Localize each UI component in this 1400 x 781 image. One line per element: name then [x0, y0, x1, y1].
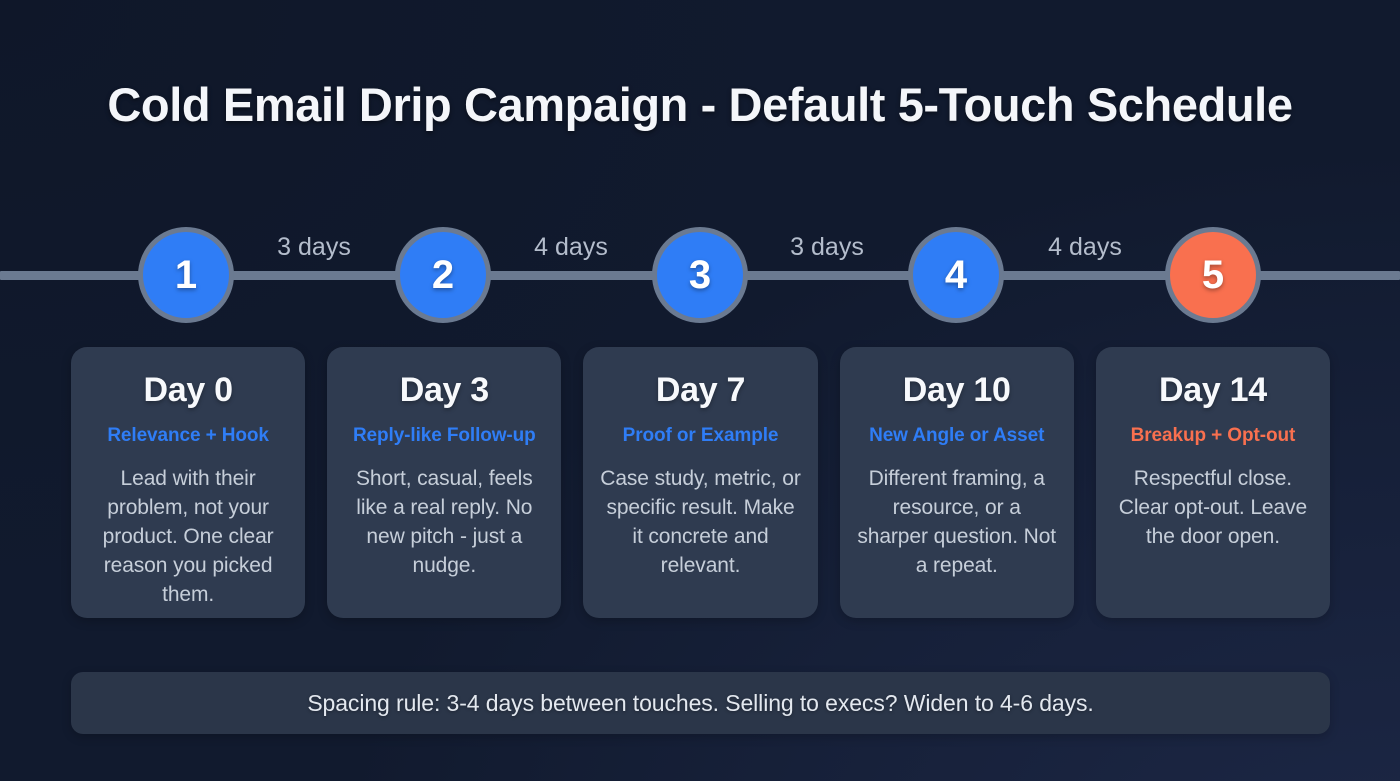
touch-card-subject-3: Proof or Example	[623, 425, 779, 448]
touch-card-body-3: Case study, metric, or specific result. …	[599, 465, 801, 581]
page-title: Cold Email Drip Campaign - Default 5-Tou…	[0, 78, 1400, 132]
touch-card-day-4: Day 10	[903, 373, 1011, 409]
timeline-gap-label-3: 3 days	[737, 227, 917, 267]
touch-card-day-5: Day 14	[1159, 373, 1267, 409]
timeline-node-1[interactable]: 1	[138, 227, 234, 323]
touch-card-body-4: Different framing, a resource, or a shar…	[856, 465, 1058, 581]
touch-card-subject-2: Reply-like Follow-up	[353, 425, 536, 448]
touch-card-3[interactable]: Day 7 Proof or Example Case study, metri…	[583, 347, 817, 618]
touch-card-day-1: Day 0	[143, 373, 232, 409]
touch-card-subject-1: Relevance + Hook	[107, 425, 269, 448]
touch-card-day-3: Day 7	[656, 373, 745, 409]
spacing-rule-banner: Spacing rule: 3-4 days between touches. …	[71, 672, 1330, 734]
timeline-gap-label-4: 4 days	[995, 227, 1175, 267]
timeline-gap-label-1: 3 days	[224, 227, 404, 267]
timeline-node-3[interactable]: 3	[652, 227, 748, 323]
timeline: 3 days 4 days 3 days 4 days 1 2 3 4 5	[0, 227, 1400, 323]
timeline-gap-label-2: 4 days	[481, 227, 661, 267]
touch-card-subject-4: New Angle or Asset	[869, 425, 1044, 448]
touch-card-4[interactable]: Day 10 New Angle or Asset Different fram…	[840, 347, 1074, 618]
touch-card-2[interactable]: Day 3 Reply-like Follow-up Short, casual…	[327, 347, 561, 618]
touch-card-body-2: Short, casual, feels like a real reply. …	[343, 465, 545, 581]
slide-canvas: Cold Email Drip Campaign - Default 5-Tou…	[0, 0, 1400, 781]
touch-card-day-2: Day 3	[400, 373, 489, 409]
timeline-node-5[interactable]: 5	[1165, 227, 1261, 323]
touch-card-list: Day 0 Relevance + Hook Lead with their p…	[71, 347, 1330, 618]
touch-card-5[interactable]: Day 14 Breakup + Opt-out Respectful clos…	[1096, 347, 1330, 618]
touch-card-body-5: Respectful close. Clear opt-out. Leave t…	[1112, 465, 1314, 552]
touch-card-1[interactable]: Day 0 Relevance + Hook Lead with their p…	[71, 347, 305, 618]
touch-card-body-1: Lead with their problem, not your produc…	[87, 465, 289, 610]
touch-card-subject-5: Breakup + Opt-out	[1131, 425, 1296, 448]
timeline-node-2[interactable]: 2	[395, 227, 491, 323]
timeline-node-4[interactable]: 4	[908, 227, 1004, 323]
spacing-rule-text: Spacing rule: 3-4 days between touches. …	[307, 690, 1093, 717]
